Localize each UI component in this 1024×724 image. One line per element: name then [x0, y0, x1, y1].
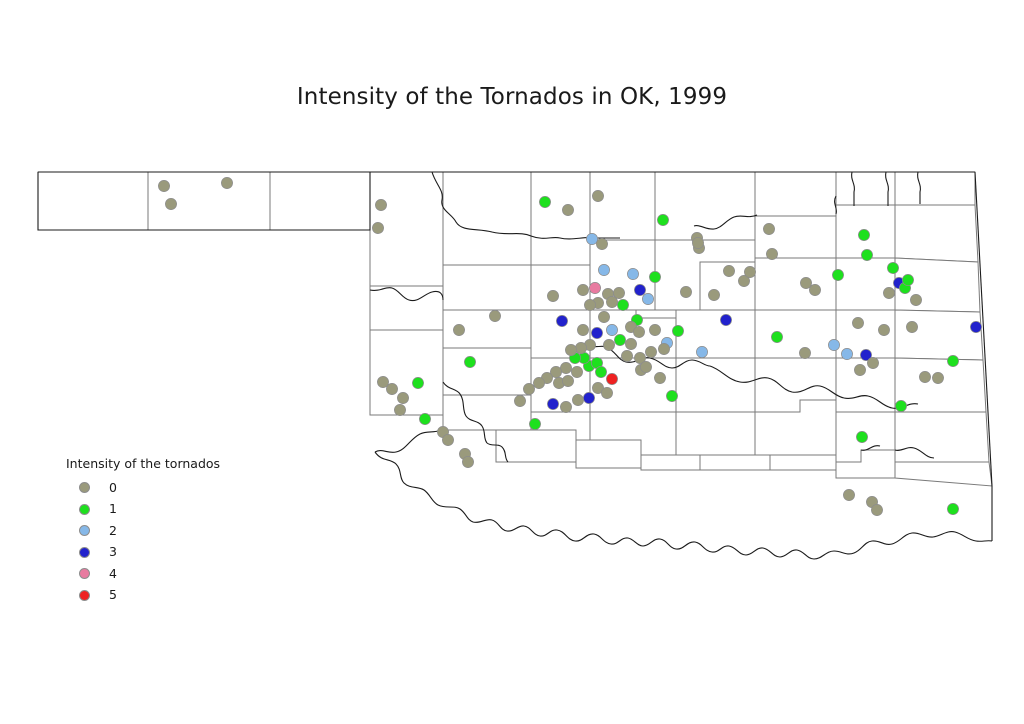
tornado-point[interactable] [634, 284, 645, 295]
tornado-point[interactable] [649, 271, 660, 282]
legend: Intensity of the tornados 012345 [66, 456, 306, 606]
tornado-point[interactable] [766, 248, 777, 259]
tornado-point[interactable] [572, 394, 583, 405]
tornado-point[interactable] [666, 390, 677, 401]
tornado-point[interactable] [708, 289, 719, 300]
tornado-point[interactable] [165, 198, 176, 209]
tornado-point[interactable] [617, 299, 628, 310]
legend-swatch-icon [79, 568, 90, 579]
tornado-point[interactable] [883, 287, 894, 298]
tornado-point[interactable] [633, 326, 644, 337]
tornado-point[interactable] [584, 299, 595, 310]
legend-item-1[interactable]: 1 [66, 499, 306, 521]
tornado-point[interactable] [562, 375, 573, 386]
tornado-point[interactable] [592, 190, 603, 201]
tornado-point[interactable] [529, 418, 540, 429]
tornado-point[interactable] [657, 214, 668, 225]
tornado-point[interactable] [720, 314, 731, 325]
legend-item-label: 5 [109, 589, 117, 602]
tornado-point[interactable] [867, 357, 878, 368]
tornado-point[interactable] [560, 362, 571, 373]
tornado-point[interactable] [533, 377, 544, 388]
oklahoma-map [0, 0, 1024, 724]
tornado-point[interactable] [606, 324, 617, 335]
tornado-point[interactable] [809, 284, 820, 295]
tornado-point[interactable] [419, 413, 430, 424]
tornado-point[interactable] [158, 180, 169, 191]
tornado-point[interactable] [386, 383, 397, 394]
tornado-point[interactable] [871, 504, 882, 515]
tornado-point[interactable] [642, 293, 653, 304]
legend-swatch-icon [79, 590, 90, 601]
tornado-point[interactable] [547, 290, 558, 301]
legend-item-label: 0 [109, 482, 117, 495]
tornado-point[interactable] [591, 327, 602, 338]
tornado-point[interactable] [854, 364, 865, 375]
tornado-point[interactable] [856, 431, 867, 442]
tornado-point[interactable] [453, 324, 464, 335]
tornado-point[interactable] [672, 325, 683, 336]
tornado-point[interactable] [577, 324, 588, 335]
tornado-point[interactable] [412, 377, 423, 388]
tornado-point[interactable] [601, 387, 612, 398]
tornado-point[interactable] [947, 503, 958, 514]
tornado-point[interactable] [603, 339, 614, 350]
tornado-point[interactable] [627, 268, 638, 279]
tornado-point[interactable] [372, 222, 383, 233]
legend-item-3[interactable]: 3 [66, 542, 306, 564]
legend-rows: 012345 [66, 477, 306, 606]
tornado-point[interactable] [771, 331, 782, 342]
tornado-point[interactable] [902, 274, 913, 285]
tornado-point[interactable] [595, 366, 606, 377]
tornado-point[interactable] [828, 339, 839, 350]
legend-swatch-icon [79, 482, 90, 493]
legend-title: Intensity of the tornados [66, 456, 306, 471]
tornado-point[interactable] [763, 223, 774, 234]
tornado-point[interactable] [375, 199, 386, 210]
tornado-point[interactable] [539, 196, 550, 207]
tornado-point[interactable] [970, 321, 981, 332]
tornado-point[interactable] [464, 356, 475, 367]
tornado-point[interactable] [906, 321, 917, 332]
tornado-point[interactable] [654, 372, 665, 383]
tornado-point[interactable] [692, 237, 703, 248]
tornado-point[interactable] [565, 344, 576, 355]
tornado-point[interactable] [723, 265, 734, 276]
tornado-point[interactable] [598, 264, 609, 275]
tornado-point[interactable] [645, 346, 656, 357]
tornado-point[interactable] [556, 315, 567, 326]
tornado-point[interactable] [658, 343, 669, 354]
tornado-point[interactable] [489, 310, 500, 321]
tornado-point[interactable] [523, 383, 534, 394]
tornado-point[interactable] [221, 177, 232, 188]
tornado-point[interactable] [640, 361, 651, 372]
legend-swatch-icon [79, 504, 90, 515]
tornado-point[interactable] [598, 311, 609, 322]
legend-swatch-icon [79, 525, 90, 536]
tornado-point[interactable] [606, 373, 617, 384]
tornado-point[interactable] [832, 269, 843, 280]
tornado-point[interactable] [649, 324, 660, 335]
tornado-point[interactable] [583, 392, 594, 403]
tornado-point[interactable] [932, 372, 943, 383]
tornado-point[interactable] [910, 294, 921, 305]
legend-item-2[interactable]: 2 [66, 520, 306, 542]
tornado-point[interactable] [841, 348, 852, 359]
tornado-point[interactable] [560, 401, 571, 412]
legend-item-label: 2 [109, 525, 117, 538]
tornado-point[interactable] [858, 229, 869, 240]
tornado-point[interactable] [799, 347, 810, 358]
tornado-point[interactable] [852, 317, 863, 328]
tornado-point[interactable] [895, 400, 906, 411]
tornado-point[interactable] [947, 355, 958, 366]
tornado-point[interactable] [861, 249, 872, 260]
tornado-point[interactable] [696, 346, 707, 357]
tornado-point[interactable] [680, 286, 691, 297]
legend-swatch-icon [79, 547, 90, 558]
tornado-point[interactable] [575, 342, 586, 353]
tornado-point[interactable] [577, 284, 588, 295]
legend-item-4[interactable]: 4 [66, 563, 306, 585]
legend-item-label: 4 [109, 568, 117, 581]
tornado-point[interactable] [621, 350, 632, 361]
tornado-point[interactable] [442, 434, 453, 445]
panhandle-counties [38, 172, 370, 230]
tornado-point[interactable] [744, 266, 755, 277]
tornado-point[interactable] [514, 395, 525, 406]
tornado-point[interactable] [606, 296, 617, 307]
tornado-point[interactable] [878, 324, 889, 335]
chart-canvas: Intensity of the Tornados in OK, 1999 [0, 0, 1024, 724]
tornado-point[interactable] [586, 233, 597, 244]
legend-item-5[interactable]: 5 [66, 585, 306, 607]
tornado-point[interactable] [571, 366, 582, 377]
tornado-point[interactable] [589, 282, 600, 293]
tornado-point[interactable] [625, 338, 636, 349]
tornado-point[interactable] [397, 392, 408, 403]
tornado-point[interactable] [547, 398, 558, 409]
legend-item-0[interactable]: 0 [66, 477, 306, 499]
tornado-point[interactable] [394, 404, 405, 415]
tornado-point[interactable] [887, 262, 898, 273]
tornado-point[interactable] [462, 456, 473, 467]
map-svg [0, 0, 1024, 724]
tornado-point[interactable] [596, 238, 607, 249]
tornado-point[interactable] [919, 371, 930, 382]
tornado-point[interactable] [614, 334, 625, 345]
tornado-point[interactable] [562, 204, 573, 215]
legend-item-label: 3 [109, 546, 117, 559]
tornado-point[interactable] [843, 489, 854, 500]
legend-item-label: 1 [109, 503, 117, 516]
